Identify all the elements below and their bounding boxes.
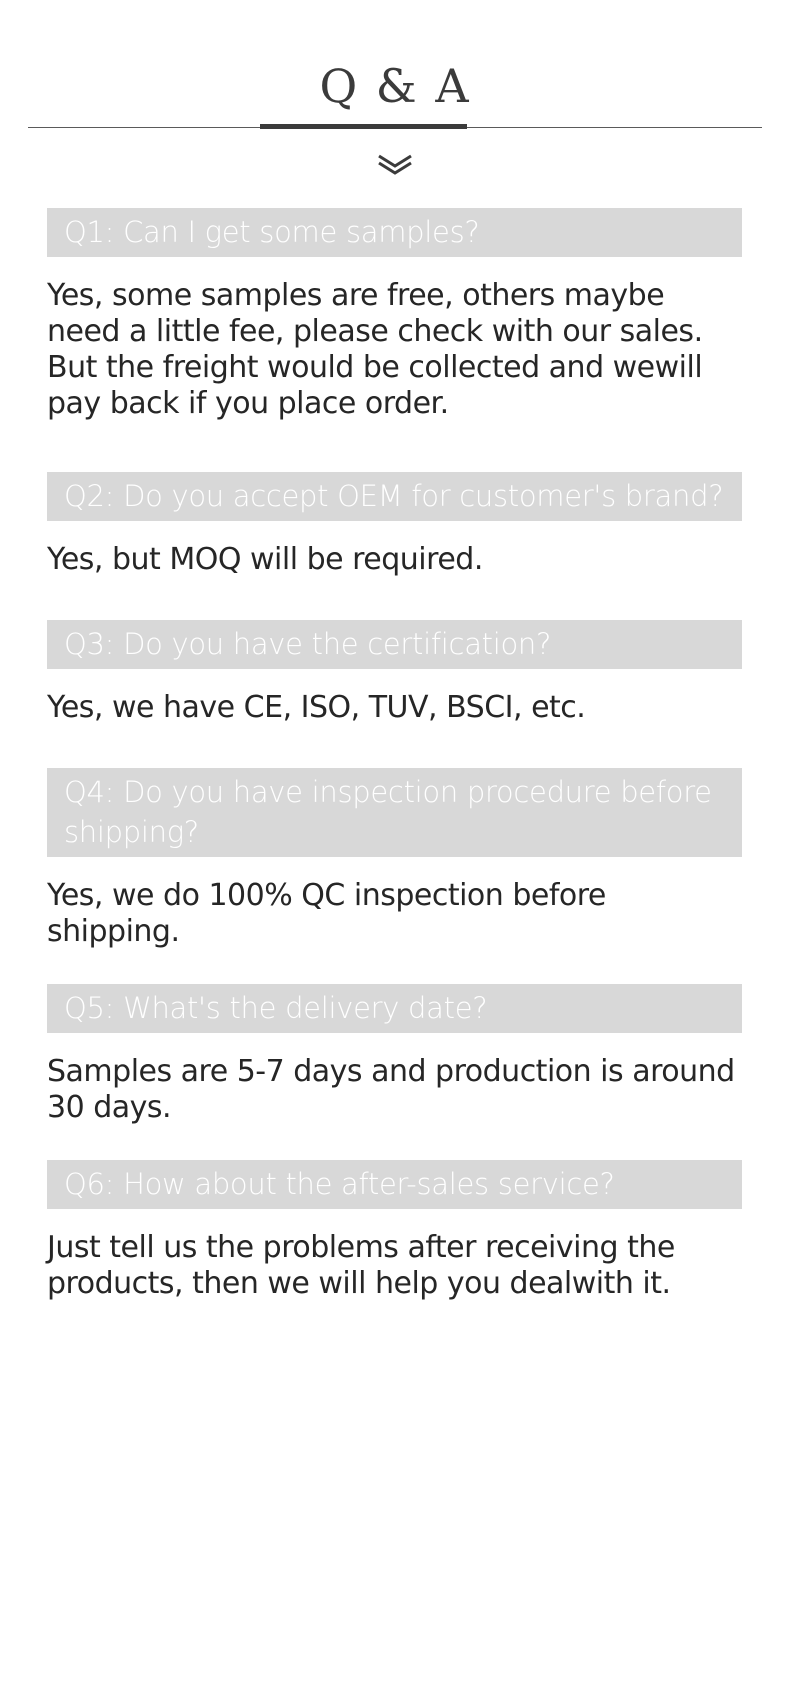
faq-question-3[interactable]: Q3: Do you have the certification? xyxy=(47,620,742,669)
faq-answer-5: Samples are 5-7 days and production is a… xyxy=(47,1033,742,1148)
double-chevron-down-icon[interactable] xyxy=(0,152,790,182)
faq-item-2: Q2: Do you accept OEM for customer's bra… xyxy=(0,472,790,600)
faq-answer-6: Just tell us the problems after receivin… xyxy=(47,1209,742,1324)
faq-item-4: Q4: Do you have inspection procedure bef… xyxy=(0,768,790,972)
faq-item-3: Q3: Do you have the certification? Yes, … xyxy=(0,620,790,748)
faq-answer-3: Yes, we have CE, ISO, TUV, BSCI, etc. xyxy=(47,669,742,748)
faq-item-1: Q1: Can I get some samples? Yes, some sa… xyxy=(0,208,790,444)
qa-page: Q & A Q1: Can I get some samples? Yes, s… xyxy=(0,0,790,1699)
faq-answer-1: Yes, some samples are free, others maybe… xyxy=(47,257,742,444)
faq-list: Q1: Can I get some samples? Yes, some sa… xyxy=(0,196,790,1324)
faq-question-2[interactable]: Q2: Do you accept OEM for customer's bra… xyxy=(47,472,742,521)
faq-item-5: Q5: What's the delivery date? Samples ar… xyxy=(0,984,790,1148)
page-header: Q & A xyxy=(0,0,790,196)
faq-question-6[interactable]: Q6: How about the after-sales service? xyxy=(47,1160,742,1209)
faq-answer-4: Yes, we do 100% QC inspection before shi… xyxy=(47,857,742,972)
faq-question-5[interactable]: Q5: What's the delivery date? xyxy=(47,984,742,1033)
faq-question-4[interactable]: Q4: Do you have inspection procedure bef… xyxy=(47,768,742,857)
page-title: Q & A xyxy=(0,56,790,116)
faq-question-1[interactable]: Q1: Can I get some samples? xyxy=(47,208,742,257)
faq-answer-2: Yes, but MOQ will be required. xyxy=(47,521,742,600)
faq-item-6: Q6: How about the after-sales service? J… xyxy=(0,1160,790,1324)
header-divider-accent xyxy=(260,124,467,129)
